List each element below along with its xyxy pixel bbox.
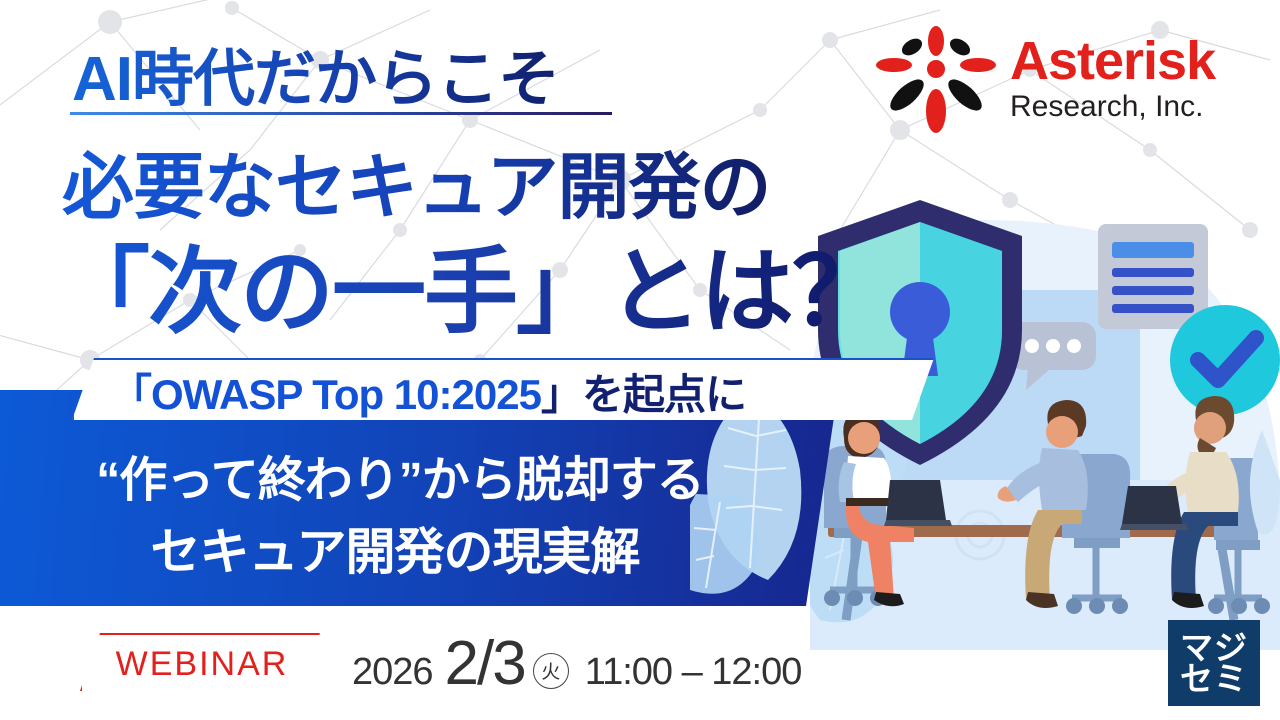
webinar-badge: WEBINAR <box>80 633 324 695</box>
document-icon <box>1098 224 1208 329</box>
event-month-day: 2/3 <box>445 628 525 699</box>
asterisk-logo: Asterisk Research, Inc. <box>876 18 1256 138</box>
majisemi-logo: マジ セミ <box>1168 620 1260 706</box>
highlight-bar: 「OWASP Top 10:2025」を起点に <box>72 358 938 424</box>
event-time: 11:00 – 12:00 <box>585 651 802 694</box>
date-time-line: 2026 2/3 火 11:00 – 12:00 <box>352 628 801 696</box>
majisemi-line1: マジ <box>1180 632 1248 663</box>
webinar-banner: AI時代だからこそ 必要なセキュア開発の 「次の一手」とは？ 「OWASP To… <box>0 0 1280 720</box>
band-line-2: セキュア開発の現実解 <box>0 512 790 584</box>
event-year: 2026 <box>352 651 433 694</box>
highlight-bar-prefix: 「 <box>110 371 151 418</box>
majisemi-line2: セミ <box>1180 663 1248 694</box>
logo-subtitle: Research, Inc. <box>1010 92 1203 122</box>
headline-kicker: AI時代だからこそ <box>72 28 559 118</box>
highlight-bar-suffix: 」を起点に <box>541 371 746 418</box>
highlight-bar-main: OWASP Top 10:2025 <box>151 371 541 418</box>
webinar-badge-label: WEBINAR <box>116 645 289 684</box>
headline-line3: 「次の一手」とは？ <box>56 216 884 352</box>
event-day-of-week: 火 <box>533 653 569 689</box>
headline-rule <box>70 112 612 115</box>
asterisk-flower-mark <box>876 23 996 133</box>
highlight-bar-text: 「OWASP Top 10:2025」を起点に <box>110 361 746 422</box>
band-line-1: “作って終わり”から脱却する <box>0 440 800 510</box>
logo-name: Asterisk <box>1010 34 1215 88</box>
